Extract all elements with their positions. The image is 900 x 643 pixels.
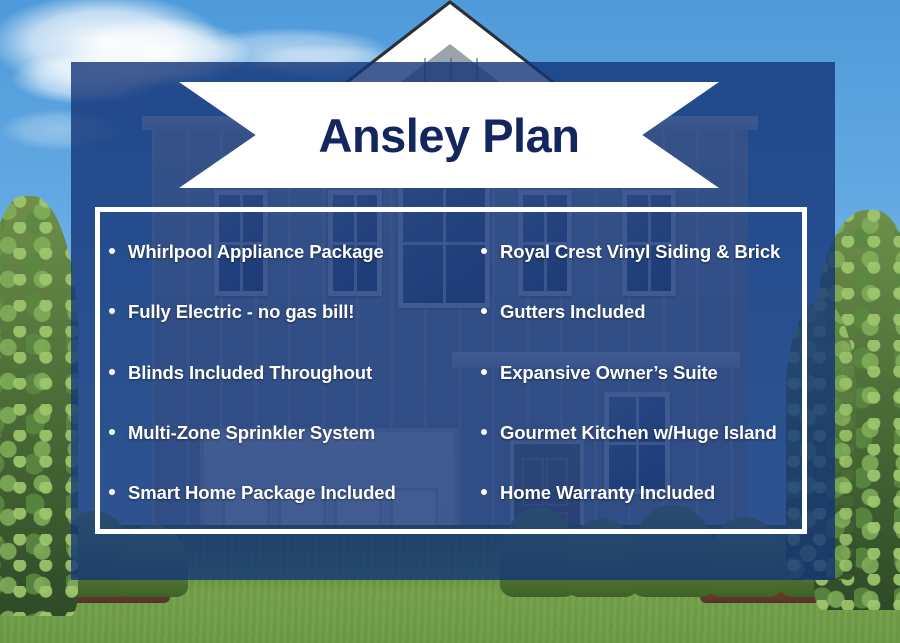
list-item: Royal Crest Vinyl Siding & Brick <box>481 241 797 263</box>
list-item: Whirlpool Appliance Package <box>109 241 425 263</box>
list-item: Smart Home Package Included <box>109 482 425 504</box>
marketing-flyer: Ansley Plan Whirlpool Appliance Package … <box>0 0 900 643</box>
list-item: Gourmet Kitchen w/Huge Island <box>481 422 797 444</box>
feature-label: Gourmet Kitchen w/Huge Island <box>500 422 777 444</box>
feature-label: Royal Crest Vinyl Siding & Brick <box>500 241 780 263</box>
bullet-icon <box>109 248 115 254</box>
feature-label: Smart Home Package Included <box>128 482 396 504</box>
bullet-icon <box>109 369 115 375</box>
feature-label: Expansive Owner’s Suite <box>500 362 718 384</box>
tree <box>0 196 78 616</box>
feature-label: Gutters Included <box>500 301 645 323</box>
bullet-icon <box>109 489 115 495</box>
bullet-icon <box>481 489 487 495</box>
feature-column-right: Royal Crest Vinyl Siding & Brick Gutters… <box>425 241 797 504</box>
list-item: Blinds Included Throughout <box>109 362 425 384</box>
feature-label: Fully Electric - no gas bill! <box>128 301 354 323</box>
list-item: Multi-Zone Sprinkler System <box>109 422 425 444</box>
feature-label: Blinds Included Throughout <box>128 362 372 384</box>
feature-column-left: Whirlpool Appliance Package Fully Electr… <box>105 241 425 504</box>
list-item: Fully Electric - no gas bill! <box>109 301 425 323</box>
bullet-icon <box>109 308 115 314</box>
list-item: Expansive Owner’s Suite <box>481 362 797 384</box>
bullet-icon <box>481 248 487 254</box>
feature-label: Home Warranty Included <box>500 482 715 504</box>
bullet-icon <box>109 429 115 435</box>
bullet-icon <box>481 369 487 375</box>
bullet-icon <box>481 429 487 435</box>
feature-label: Whirlpool Appliance Package <box>128 241 384 263</box>
list-item: Home Warranty Included <box>481 482 797 504</box>
page-title: Ansley Plan <box>319 108 580 163</box>
list-item: Gutters Included <box>481 301 797 323</box>
bullet-icon <box>481 308 487 314</box>
feature-columns: Whirlpool Appliance Package Fully Electr… <box>95 207 807 534</box>
feature-label: Multi-Zone Sprinkler System <box>128 422 375 444</box>
ribbon-banner: Ansley Plan <box>179 82 719 188</box>
